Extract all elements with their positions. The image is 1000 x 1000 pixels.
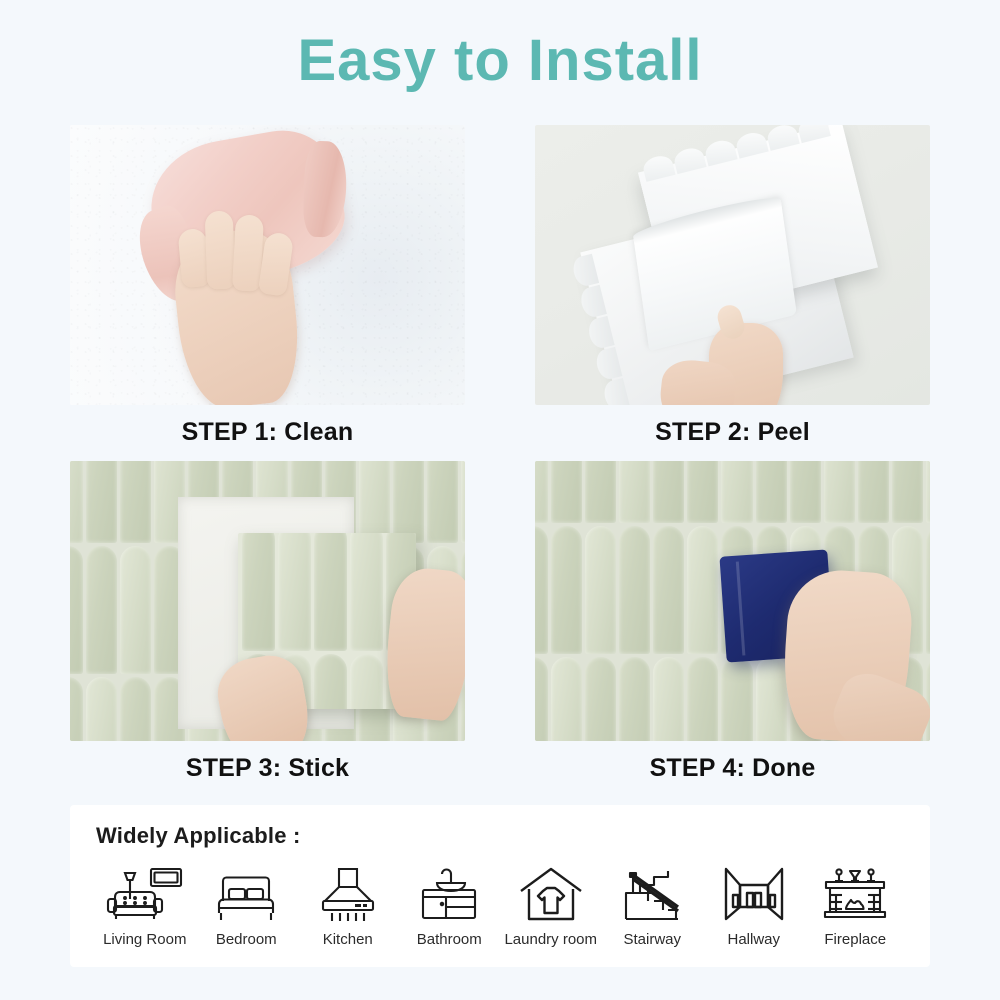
wall-tile (585, 657, 616, 741)
wall-tile (70, 677, 83, 741)
hand-wiping (170, 153, 320, 403)
wall-tile (278, 533, 311, 651)
wall-tile (619, 526, 650, 654)
wall-tile (120, 546, 151, 674)
step-cell-2: STEP 2: Peel (535, 125, 930, 447)
wall-tile (721, 461, 752, 523)
step-cell-4: STEP 4: Done (535, 461, 930, 783)
applicable-item-fireplace: Fireplace (805, 861, 907, 948)
wall-tile (314, 533, 347, 651)
step-label-3: STEP 3: Stick (70, 754, 465, 783)
step-label-4: STEP 4: Done (535, 754, 930, 783)
wall-tile (461, 461, 465, 543)
wall-tile (551, 526, 582, 654)
wall-tile (120, 461, 151, 543)
wall-tile (687, 526, 718, 654)
vanity-sink-icon (399, 861, 501, 923)
bed-icon (196, 861, 298, 923)
house-tshirt-icon (500, 861, 602, 923)
wall-tile (120, 677, 151, 741)
applicable-item-stairway: Stairway (602, 861, 704, 948)
wall-tile (70, 461, 83, 543)
wall-tile (756, 461, 787, 523)
wall-tile (619, 461, 650, 523)
wall-tile (892, 461, 923, 523)
applicable-item-hallway: Hallway (703, 861, 805, 948)
applicable-label: Hallway (703, 931, 805, 948)
wall-tile (926, 657, 930, 741)
wall-tile (653, 526, 684, 654)
wall-tile (350, 654, 383, 709)
applicable-icon-row: Living Room Bedroom (90, 861, 910, 948)
wall-tile (756, 657, 787, 741)
wall-tile (790, 461, 821, 523)
wall-tile (314, 654, 347, 709)
steps-grid: STEP 1: Clean STEP 2: Peel (70, 125, 930, 783)
widely-applicable-card: Widely Applicable : (70, 805, 930, 967)
applicable-item-laundry-room: Laundry room (500, 861, 602, 948)
applicable-item-kitchen: Kitchen (297, 861, 399, 948)
step-photo-1 (70, 125, 465, 405)
staircase-icon (602, 861, 704, 923)
wall-tile (653, 461, 684, 523)
corridor-doors-icon (703, 861, 805, 923)
wall-tile (687, 461, 718, 523)
sofa-lamp-picture-icon (94, 861, 196, 923)
wall-tile (551, 657, 582, 741)
wall-tile (926, 526, 930, 654)
wall-tile (585, 526, 616, 654)
wall-tile (535, 526, 548, 654)
wall-tile (70, 546, 83, 674)
page-title: Easy to Install (0, 0, 1000, 72)
step-label-2: STEP 2: Peel (535, 418, 930, 447)
wall-tile (359, 461, 390, 543)
step-photo-4 (535, 461, 930, 741)
applicable-label: Fireplace (805, 931, 907, 948)
step-photo-3 (70, 461, 465, 741)
hand-finger (205, 211, 236, 290)
fireplace-mantel-icon (805, 861, 907, 923)
applicable-item-bedroom: Bedroom (196, 861, 298, 948)
wall-tile (687, 657, 718, 741)
widely-applicable-title: Widely Applicable : (96, 823, 910, 849)
wall-tile (619, 657, 650, 741)
wall-tile (824, 461, 855, 523)
step-cell-3: STEP 3: Stick (70, 461, 465, 783)
applicable-label: Living Room (94, 931, 196, 948)
wall-tile (427, 461, 458, 543)
wall-tile (242, 533, 275, 651)
wall-tile (535, 461, 548, 523)
step-cell-1: STEP 1: Clean (70, 125, 465, 447)
applicable-label: Kitchen (297, 931, 399, 948)
wall-tile (653, 657, 684, 741)
applicable-label: Stairway (602, 931, 704, 948)
wall-tile (86, 677, 117, 741)
applicable-label: Laundry room (500, 931, 602, 948)
wall-tile (721, 657, 752, 741)
wall-tile (585, 461, 616, 523)
wall-tile (858, 461, 889, 523)
wall-tile (535, 657, 548, 741)
applicable-item-bathroom: Bathroom (399, 861, 501, 948)
wall-tile (393, 461, 424, 543)
applicable-label: Bedroom (196, 931, 298, 948)
range-hood-icon (297, 861, 399, 923)
wall-tile (86, 461, 117, 543)
step-label-1: STEP 1: Clean (70, 418, 465, 447)
wall-tile (350, 533, 383, 651)
wall-tile (86, 546, 117, 674)
applicable-label: Bathroom (399, 931, 501, 948)
wall-tile (926, 461, 930, 523)
step-photo-2 (535, 125, 930, 405)
applicable-item-living-room: Living Room (94, 861, 196, 948)
hand-smoothing (779, 567, 915, 741)
wall-tile (551, 461, 582, 523)
